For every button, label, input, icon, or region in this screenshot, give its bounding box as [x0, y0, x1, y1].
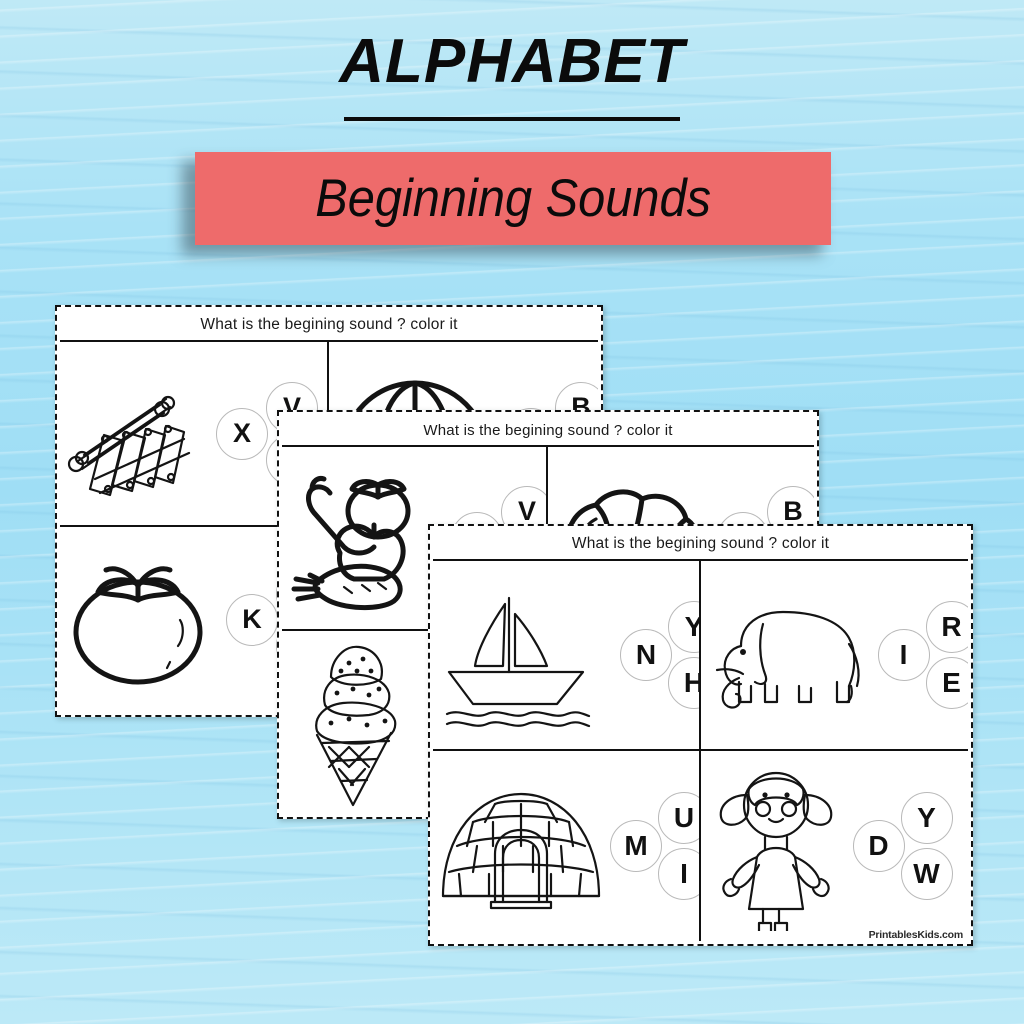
worksheet-cell[interactable]: N Y H — [433, 561, 701, 751]
worksheet-grid: N Y H — [433, 561, 968, 941]
option-circle[interactable]: H — [668, 657, 701, 709]
subtitle-banner: Beginning Sounds — [195, 152, 831, 245]
page-title-underline — [344, 117, 680, 121]
page-title: ALPHABET — [0, 26, 1024, 97]
option-circle[interactable]: Y — [901, 792, 953, 844]
worksheet-prompt: What is the begining sound ? color it — [282, 415, 814, 447]
icecream-icon — [282, 635, 430, 810]
option-circle[interactable]: X — [216, 408, 268, 460]
worksheet-front[interactable]: What is the begining sound ? color it N — [428, 524, 973, 946]
option-circle[interactable]: U — [658, 792, 701, 844]
sailboat-icon — [433, 580, 618, 730]
worksheet-options: D Y W — [851, 751, 969, 941]
worksheet-options: M U I — [608, 751, 699, 941]
elephant-icon — [701, 590, 876, 720]
vegetables-icon — [282, 463, 447, 613]
option-circle[interactable]: I — [658, 848, 701, 900]
worksheet-prompt: What is the begining sound ? color it — [433, 529, 968, 561]
page-subtitle: Beginning Sounds — [315, 168, 711, 229]
option-circle[interactable]: K — [226, 594, 278, 646]
option-circle[interactable]: I — [878, 629, 930, 681]
worksheet-cell[interactable]: I R E — [701, 561, 969, 751]
option-circle[interactable]: W — [901, 848, 953, 900]
option-circle[interactable]: N — [620, 629, 672, 681]
watermark-label: PrintablesKids.com — [869, 929, 963, 941]
option-circle[interactable]: M — [610, 820, 662, 872]
xylophone-icon — [60, 369, 210, 499]
worksheet-prompt: What is the begining sound ? color it — [60, 310, 598, 342]
option-circle[interactable]: Y — [668, 601, 701, 653]
worksheet-cell[interactable]: M U I — [433, 751, 701, 941]
doll-icon — [701, 761, 851, 931]
option-circle[interactable]: R — [926, 601, 969, 653]
tomato-icon — [60, 550, 220, 690]
worksheet-options: N Y H — [618, 561, 699, 749]
worksheet-cell[interactable]: D Y W — [701, 751, 969, 941]
option-circle[interactable]: E — [926, 657, 969, 709]
igloo-icon — [433, 776, 608, 916]
option-circle[interactable]: D — [853, 820, 905, 872]
worksheet-options: I R E — [876, 561, 969, 749]
